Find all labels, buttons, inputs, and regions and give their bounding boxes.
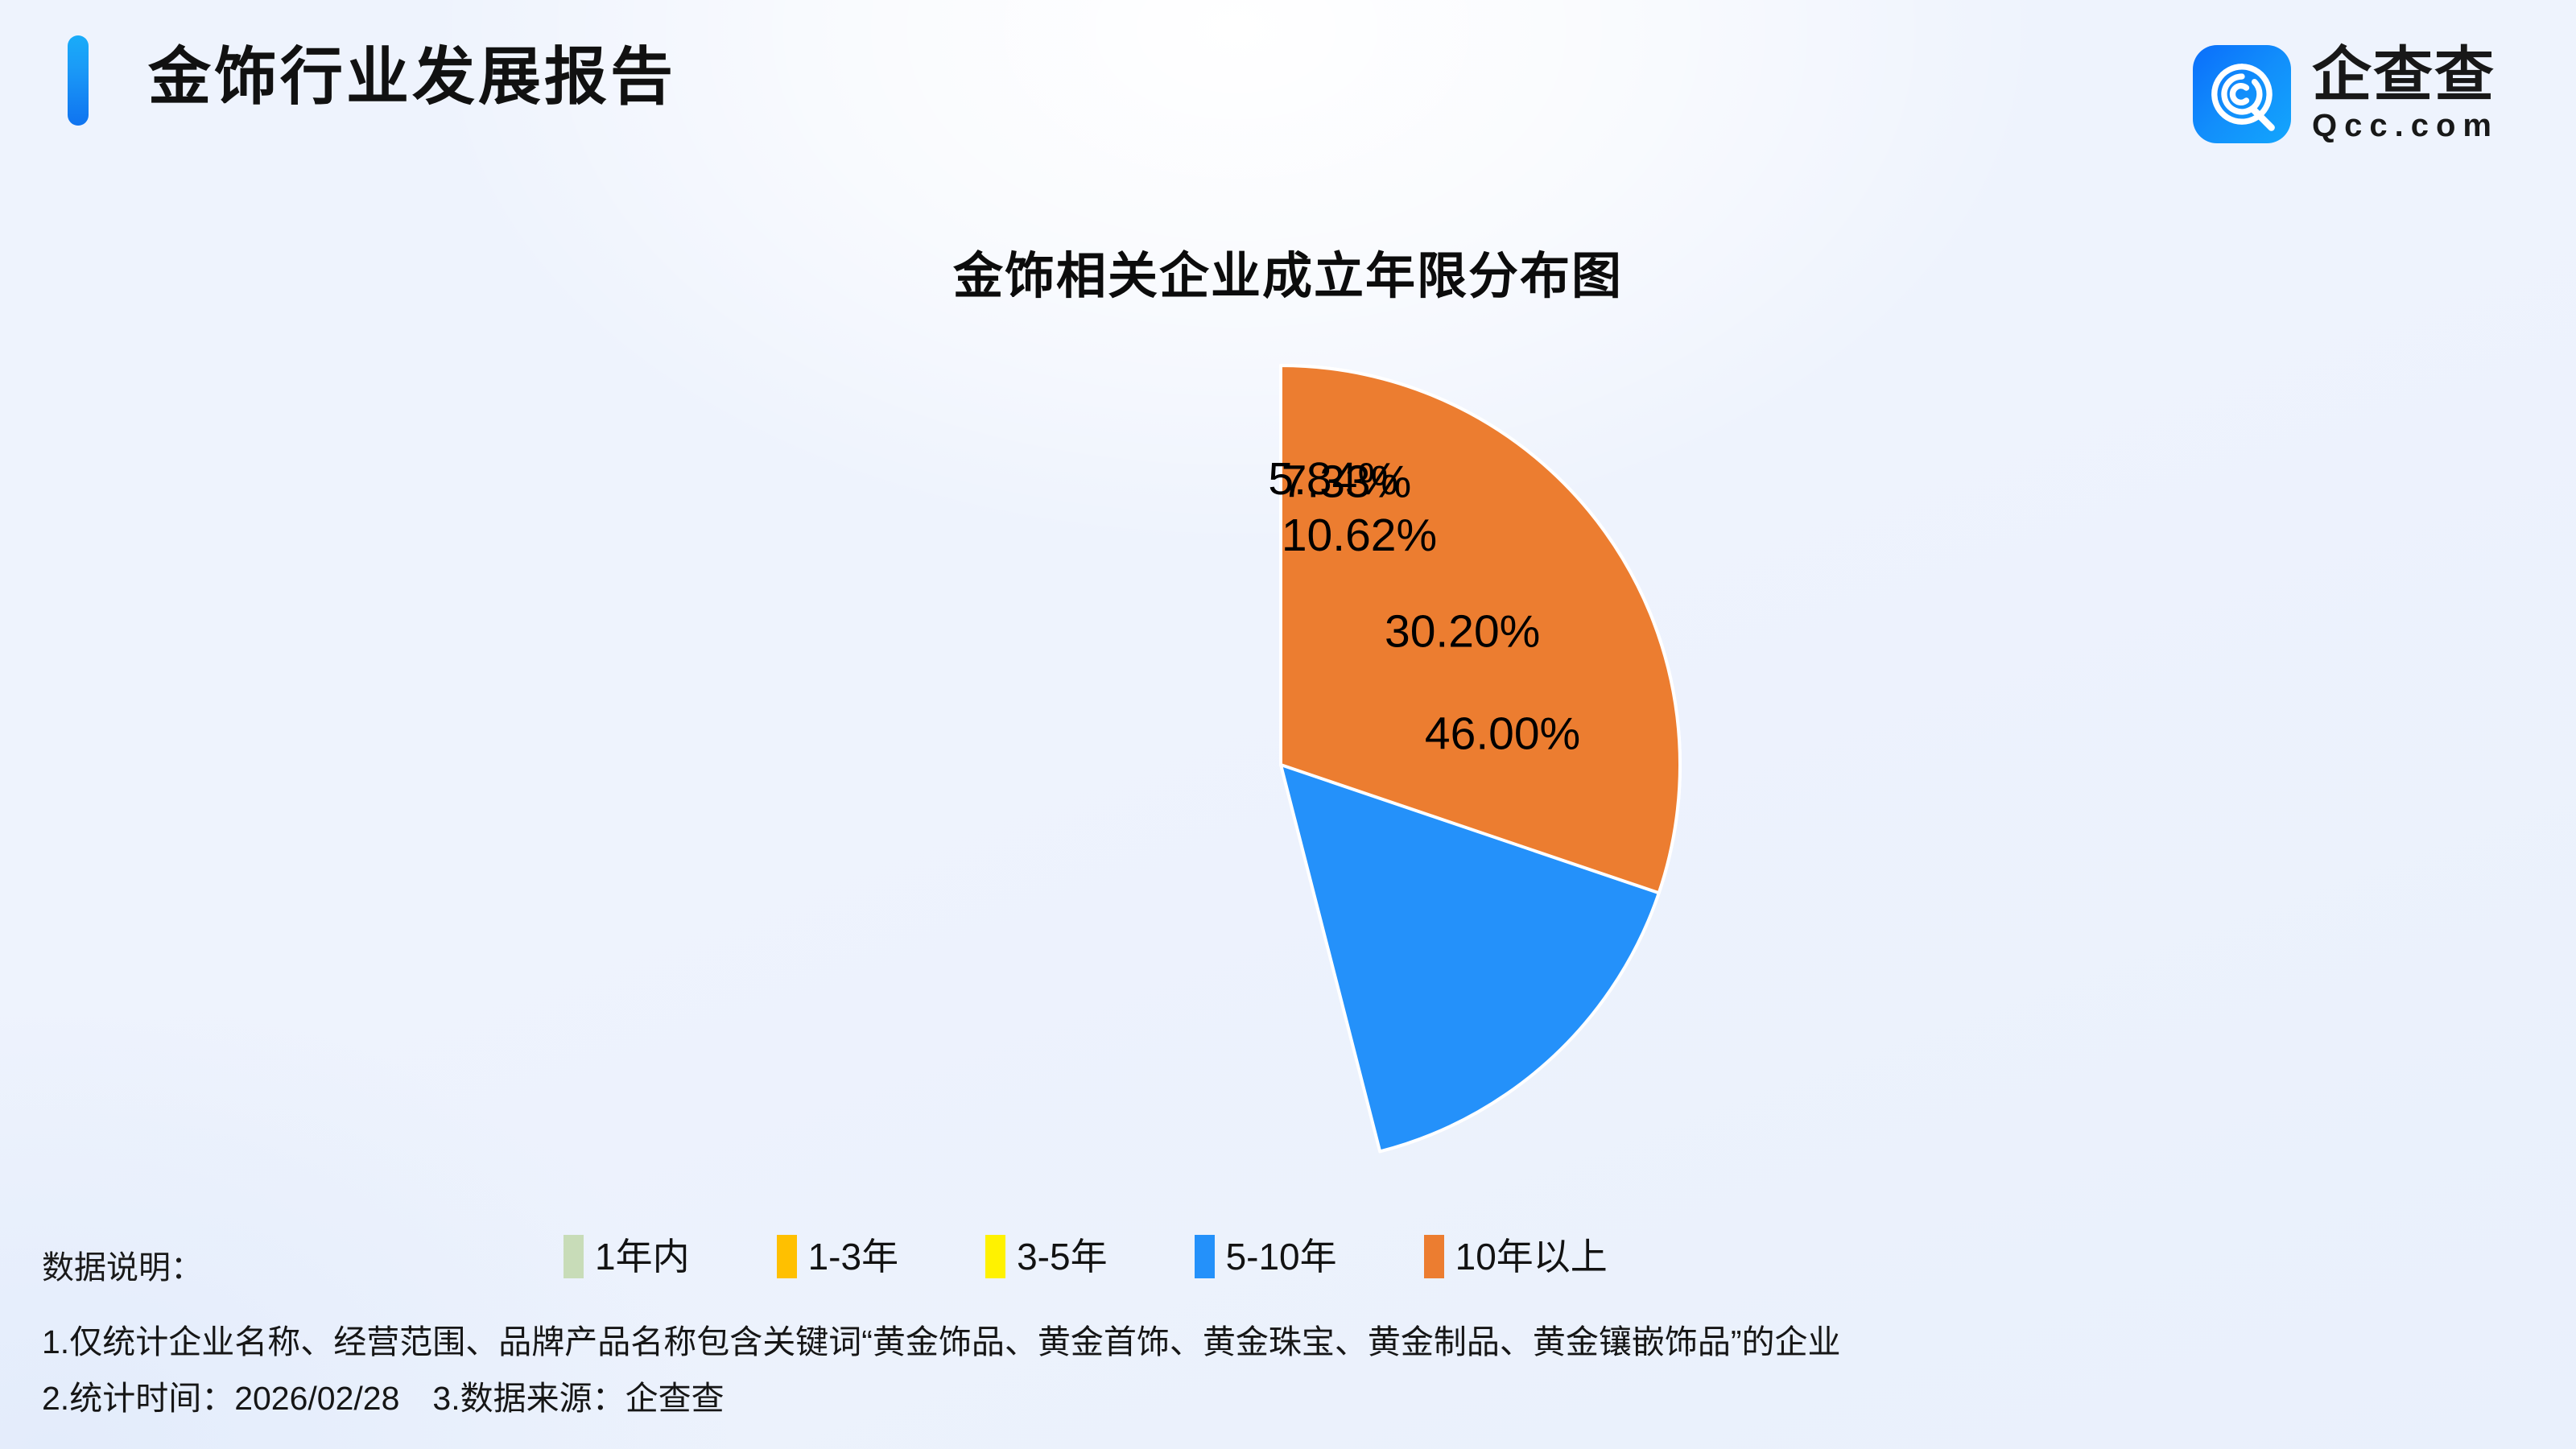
legend-item[interactable]: 1-3年 bbox=[777, 1235, 898, 1278]
brand-domain: Qcc.com bbox=[2312, 106, 2499, 145]
brand-logo[interactable]: 企查查 Qcc.com bbox=[2193, 43, 2499, 145]
qcc-logo-icon bbox=[2193, 45, 2291, 143]
brand-name: 企查查 bbox=[2312, 43, 2499, 106]
legend-label: 1-3年 bbox=[808, 1235, 898, 1278]
legend-swatch-icon bbox=[777, 1235, 797, 1278]
chart-legend: 1年内1-3年3-5年5-10年10年以上 bbox=[563, 1235, 1608, 1278]
legend-label: 1年内 bbox=[595, 1235, 690, 1278]
legend-item[interactable]: 1年内 bbox=[563, 1235, 690, 1278]
pie-slice-label: 10.62% bbox=[1282, 510, 1437, 561]
legend-item[interactable]: 10年以上 bbox=[1424, 1235, 1608, 1278]
chart-title: 金饰相关企业成立年限分布图 bbox=[0, 235, 2576, 308]
brand-text: 企查查 Qcc.com bbox=[2312, 43, 2499, 145]
legend-swatch-icon bbox=[1424, 1235, 1444, 1278]
legend-swatch-icon bbox=[1195, 1235, 1215, 1278]
footnotes: 1.仅统计企业名称、经营范围、品牌产品名称包含关键词“黄金饰品、黄金首饰、黄金珠… bbox=[42, 1314, 2537, 1426]
data-note-caption: 数据说明： bbox=[42, 1241, 203, 1288]
legend-label: 5-10年 bbox=[1226, 1235, 1337, 1278]
page-title: 金饰行业发展报告 bbox=[148, 26, 676, 127]
pie-slice-label: 30.20% bbox=[1385, 605, 1540, 657]
pie-slice-label: 46.00% bbox=[1425, 708, 1580, 759]
pie-slice-label: 7.33% bbox=[1282, 456, 1412, 507]
title-accent-bar bbox=[68, 35, 89, 126]
pie-chart-svg: 5.84%10.62%7.33%46.00%30.20% bbox=[878, 362, 1683, 1167]
pie-chart: 5.84%10.62%7.33%46.00%30.20% bbox=[878, 362, 1683, 1167]
legend-item[interactable]: 3-5年 bbox=[985, 1235, 1107, 1278]
legend-item[interactable]: 5-10年 bbox=[1195, 1235, 1337, 1278]
footnote-line: 1.仅统计企业名称、经营范围、品牌产品名称包含关键词“黄金饰品、黄金首饰、黄金珠… bbox=[42, 1314, 2537, 1370]
legend-label: 10年以上 bbox=[1455, 1235, 1608, 1278]
footnote-line: 2.统计时间：2026/02/28 3.数据来源：企查查 bbox=[42, 1370, 2537, 1426]
page-header: 金饰行业发展报告 企查查 Qcc.com bbox=[0, 0, 2576, 185]
legend-label: 3-5年 bbox=[1017, 1235, 1107, 1278]
report-page: 金饰行业发展报告 企查查 Qcc.com 金饰相关企业成立年限分布图 bbox=[0, 0, 2576, 1449]
legend-swatch-icon bbox=[985, 1235, 1005, 1278]
legend-swatch-icon bbox=[563, 1235, 584, 1278]
